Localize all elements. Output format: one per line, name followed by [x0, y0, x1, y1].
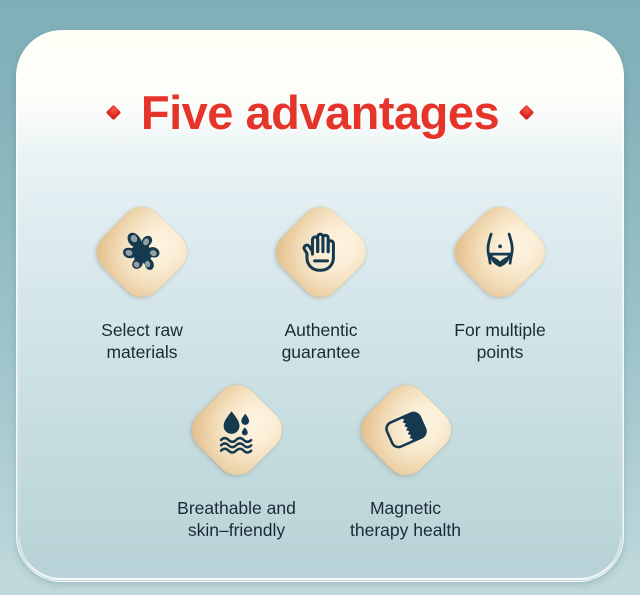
feature-label: Authentic guarantee — [282, 319, 361, 364]
diamond-bullet-icon-left — [106, 105, 122, 121]
feature-magnetic-therapy-health: Magnetic therapy health — [321, 377, 490, 542]
open-hand-icon — [290, 221, 352, 283]
features-row-top: Select raw materials — [57, 199, 585, 364]
feature-tile — [184, 377, 290, 483]
poster-stage: Five advantages — [0, 0, 640, 609]
feature-tile — [89, 199, 195, 305]
feature-label: Breathable and skin–friendly — [177, 497, 296, 542]
ginger-root-icon — [111, 221, 173, 283]
feature-tile — [353, 377, 459, 483]
feature-label: For multiple points — [454, 319, 545, 364]
feature-select-raw-materials: Select raw materials — [57, 199, 227, 364]
diamond-bullet-icon-right — [519, 105, 535, 121]
feature-for-multiple-points: For multiple points — [415, 199, 585, 364]
feature-label: Select raw materials — [101, 319, 183, 364]
features-row-bottom: Breathable and skin–friendly Magnetic th… — [152, 377, 490, 542]
abdomen-waist-icon — [469, 221, 531, 283]
feature-tile — [268, 199, 374, 305]
card-bottom-rim — [19, 538, 621, 580]
feature-label: Magnetic therapy health — [350, 497, 461, 542]
water-drop-waves-icon — [206, 399, 268, 461]
page-title: Five advantages — [141, 89, 499, 136]
feature-breathable-skin-friendly: Breathable and skin–friendly — [152, 377, 321, 542]
title-row: Five advantages — [17, 89, 623, 136]
feature-tile — [447, 199, 553, 305]
advantages-card: Five advantages — [16, 30, 624, 582]
magnetic-patch-icon — [375, 399, 437, 461]
feature-authentic-guarantee: Authentic guarantee — [236, 199, 406, 364]
